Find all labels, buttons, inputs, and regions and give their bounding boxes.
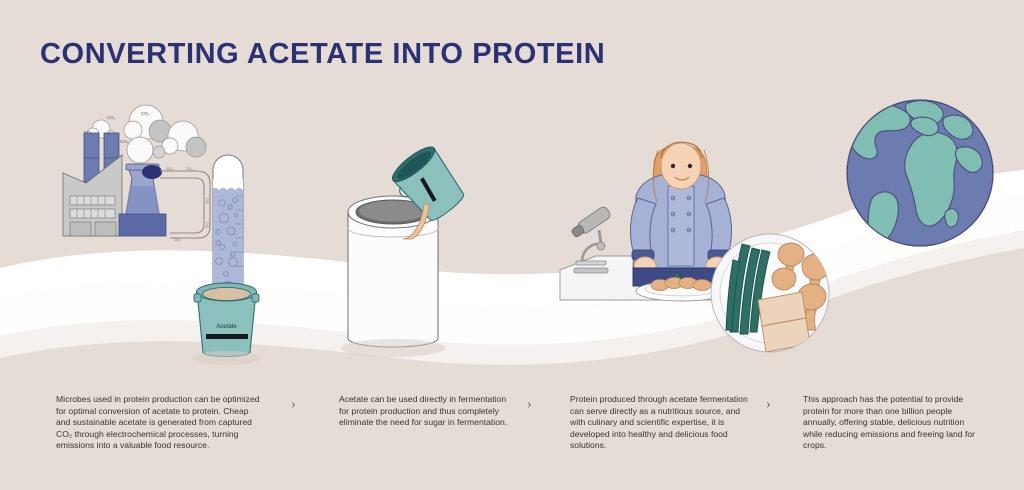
illustration-fermentation-tank xyxy=(341,142,470,357)
illustration-factory: CO₂ CO₂ CO₂ CO₂ xyxy=(63,105,261,365)
infographic-canvas: CONVERTING ACETATE INTO PROTEIN xyxy=(0,0,1024,490)
svg-text:CO₂: CO₂ xyxy=(186,167,193,171)
caption-step-3: Protein produced through acetate ferment… xyxy=(570,394,750,452)
svg-text:CO₂: CO₂ xyxy=(174,238,181,242)
co2-label-4: CO₂ xyxy=(120,139,129,144)
acetate-bucket-label: Acetate xyxy=(216,324,237,330)
illustration-globe xyxy=(847,100,993,246)
illustration-chef-kitchen xyxy=(560,142,731,301)
co2-pipe xyxy=(160,171,210,238)
bioreactor-tube xyxy=(211,155,247,304)
acetate-bucket: Acetate xyxy=(193,283,261,365)
caption-step-4: This approach has the potential to provi… xyxy=(803,394,983,452)
caption-step-1: Microbes used in protein production can … xyxy=(56,394,264,452)
svg-text:CO₂: CO₂ xyxy=(205,222,209,229)
co2-label-2: CO₂ xyxy=(141,111,150,116)
step-separator-1: › xyxy=(291,398,296,412)
step-separator-3: › xyxy=(766,398,771,412)
caption-row: Microbes used in protein production can … xyxy=(0,394,1024,490)
microscope xyxy=(570,205,612,273)
step-separator-2: › xyxy=(527,398,532,412)
illustration-food-plate xyxy=(711,234,830,352)
svg-text:CO₂: CO₂ xyxy=(166,167,173,171)
svg-text:CO₂: CO₂ xyxy=(205,198,209,205)
co2-label-1: CO₂ xyxy=(107,115,116,120)
caption-step-2: Acetate can be used directly in fermenta… xyxy=(339,394,515,429)
